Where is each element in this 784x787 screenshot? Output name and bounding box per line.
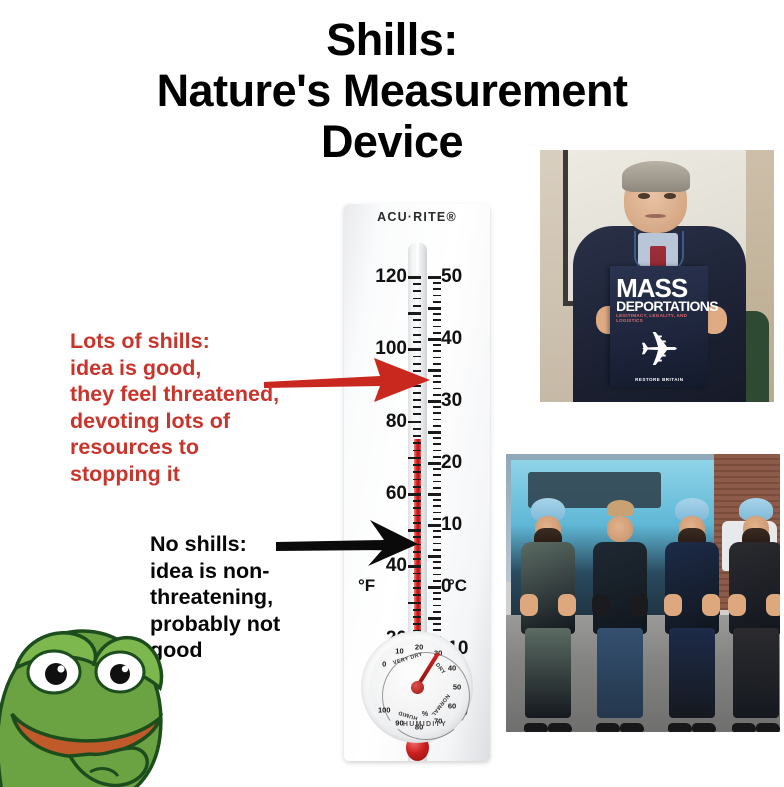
thumbs-up-icon-right — [702, 594, 720, 616]
photo1-report-cover: MASS DEPORTATIONS LEGITIMACY, LEGALITY, … — [610, 266, 708, 387]
fahrenheit-tick-60: 60 — [386, 484, 407, 503]
thermometer-panel: ACU·RITE® 120100806040200 50403020100-10… — [344, 204, 490, 761]
hair — [607, 500, 634, 516]
hygrometer-number-40: 40 — [448, 663, 456, 672]
airplane-icon: ✈ — [624, 329, 695, 360]
legs — [597, 628, 643, 718]
thermometer-brand-label: ACU·RITE® — [344, 210, 490, 224]
shoe-left — [732, 723, 756, 732]
photo2-person-4 — [728, 498, 780, 726]
celsius-tick-20: 20 — [441, 453, 462, 472]
photo1-eye-right — [664, 193, 676, 199]
photo1-hair — [622, 161, 690, 191]
hygrometer-number-0: 0 — [382, 660, 386, 669]
shoe-left — [524, 723, 548, 732]
torso — [521, 542, 575, 634]
hygrometer-hub — [411, 681, 424, 694]
thumbs-up-icon-left — [592, 594, 610, 616]
legs — [525, 628, 571, 718]
fahrenheit-tick-120: 120 — [375, 267, 407, 286]
hygrometer-number-50: 50 — [453, 683, 461, 692]
photo2-person-3 — [664, 498, 720, 726]
report-title-deportations: DEPORTATIONS — [616, 299, 706, 313]
thumbs-up-icon-left — [728, 594, 746, 616]
shoe-right — [620, 723, 644, 732]
report-subtitle: LEGITIMACY, LEGALITY, AND LOGISTICS — [616, 313, 706, 323]
meme-title: Shills: Nature's Measurement Device — [0, 14, 784, 167]
hygrometer-number-60: 60 — [448, 702, 456, 711]
photo-four-men-thumbs-up — [506, 454, 780, 732]
torso — [593, 542, 647, 634]
shoe-left — [596, 723, 620, 732]
photo2-person-1 — [520, 498, 576, 726]
celsius-tick-40: 40 — [441, 329, 462, 348]
shoe-left — [668, 723, 692, 732]
thumbs-up-icon-right — [630, 594, 648, 616]
hygrometer-caption: HUMIDITY — [369, 721, 481, 728]
hygrometer-number-10: 10 — [395, 647, 403, 656]
torso — [665, 542, 719, 634]
report-title-mass: MASS — [616, 276, 702, 300]
celsius-tick-30: 30 — [441, 391, 462, 410]
photo1-eye-left — [638, 193, 650, 199]
pepe-the-frog-icon — [0, 596, 194, 787]
thumbs-up-icon-right — [766, 594, 780, 616]
legs — [669, 628, 715, 718]
celsius-tick-50: 50 — [441, 267, 462, 286]
red-right-arrow-icon — [262, 356, 432, 404]
hygrometer-dial: 0102030405060708090100 VERY DRYDRYNORMAL… — [361, 631, 473, 743]
photo-mass-deportations: MASS DEPORTATIONS LEGITIMACY, LEGALITY, … — [540, 150, 774, 402]
meme-canvas: Shills: Nature's Measurement Device ACU·… — [0, 0, 784, 787]
fahrenheit-unit-label: °F — [358, 576, 375, 596]
callout-lots-of-shills: Lots of shills: idea is good, they feel … — [70, 328, 279, 487]
thumbs-up-icon-left — [664, 594, 682, 616]
torso — [729, 542, 780, 634]
shoe-right — [548, 723, 572, 732]
title-line-2: Nature's Measurement — [0, 65, 784, 116]
legs — [733, 628, 779, 718]
hygrometer-percent-symbol: % — [369, 711, 481, 718]
report-publisher-logo: RESTORE BRITAIN — [610, 377, 708, 382]
photo2-person-2 — [592, 498, 648, 726]
celsius-tick-10: 10 — [441, 515, 462, 534]
hygrometer-number-20: 20 — [415, 643, 423, 652]
thumbs-up-icon-right — [558, 594, 576, 616]
thumbs-up-icon-left — [520, 594, 538, 616]
black-right-arrow-icon — [272, 518, 422, 568]
celsius-unit-label: °C — [448, 576, 467, 596]
fahrenheit-tick-80: 80 — [386, 412, 407, 431]
face — [607, 516, 633, 542]
title-line-1: Shills: — [0, 14, 784, 65]
shoe-right — [756, 723, 780, 732]
hygrometer-face: 0102030405060708090100 VERY DRYDRYNORMAL… — [369, 639, 465, 735]
shoe-right — [692, 723, 716, 732]
